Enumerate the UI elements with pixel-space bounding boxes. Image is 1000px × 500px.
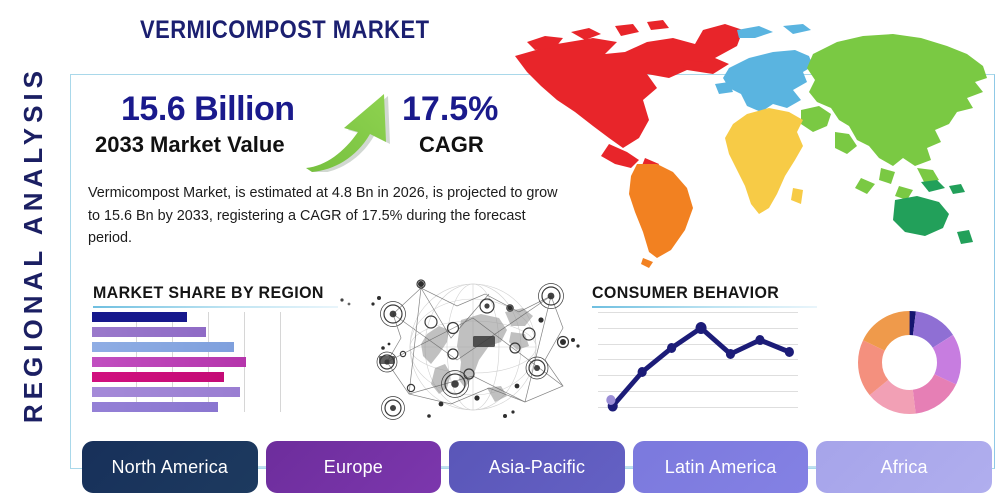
region-button-label: North America bbox=[111, 457, 228, 478]
region-button-label: Asia-Pacific bbox=[489, 457, 585, 478]
table-row bbox=[92, 402, 218, 412]
region-button-label: Latin America bbox=[665, 457, 777, 478]
decorative-dots bbox=[338, 294, 354, 312]
donut-chart bbox=[857, 310, 962, 415]
consumer-behavior-line-chart bbox=[598, 310, 798, 415]
header-underline bbox=[93, 306, 338, 308]
table-row bbox=[92, 357, 246, 367]
infographic-root: REGIONAL ANALYSIS VERMICOMPOST MARKET 15… bbox=[0, 0, 1000, 500]
cagr-number: 17.5% bbox=[402, 90, 498, 129]
region-button-latin-america[interactable]: Latin America bbox=[633, 441, 809, 493]
table-row bbox=[92, 372, 224, 382]
consumer-behavior-section-header: CONSUMER BEHAVIOR bbox=[592, 283, 817, 308]
region-button-africa[interactable]: Africa bbox=[816, 441, 992, 493]
line-chart-series bbox=[598, 310, 798, 415]
table-row bbox=[92, 327, 206, 337]
market-value-number: 15.6 Billion bbox=[121, 90, 295, 129]
table-row bbox=[92, 387, 240, 397]
region-button-north-america[interactable]: North America bbox=[82, 441, 258, 493]
market-value-label: 2033 Market Value bbox=[95, 132, 285, 158]
market-share-section-header: MARKET SHARE BY REGION bbox=[93, 283, 338, 308]
market-share-bar-chart bbox=[92, 312, 292, 412]
region-button-asia-pacific[interactable]: Asia-Pacific bbox=[449, 441, 625, 493]
table-row bbox=[92, 342, 234, 352]
world-map-icon bbox=[497, 8, 997, 270]
region-button-europe[interactable]: Europe bbox=[266, 441, 442, 493]
region-button-label: Europe bbox=[324, 457, 383, 478]
description-text: Vermicompost Market, is estimated at 4.8… bbox=[88, 182, 558, 250]
kpi-row: 15.6 Billion 2033 Market Value 17.5% CAG… bbox=[95, 90, 515, 170]
consumer-behavior-title: CONSUMER BEHAVIOR bbox=[592, 283, 804, 303]
cagr-label: CAGR bbox=[419, 132, 484, 158]
region-button-label: Africa bbox=[881, 457, 928, 478]
growth-arrow-icon bbox=[300, 84, 400, 172]
regional-analysis-side-label: REGIONAL ANALYSIS bbox=[10, 60, 56, 430]
table-row bbox=[92, 312, 187, 322]
bar-chart-bars bbox=[92, 312, 292, 412]
region-buttons: North America Europe Asia-Pacific Latin … bbox=[82, 441, 992, 493]
global-network-globe-icon bbox=[365, 268, 580, 426]
page-title: VERMICOMPOST MARKET bbox=[140, 16, 429, 45]
market-share-title: MARKET SHARE BY REGION bbox=[93, 283, 323, 303]
header-underline bbox=[592, 306, 817, 308]
side-label-text: REGIONAL ANALYSIS bbox=[18, 66, 49, 423]
